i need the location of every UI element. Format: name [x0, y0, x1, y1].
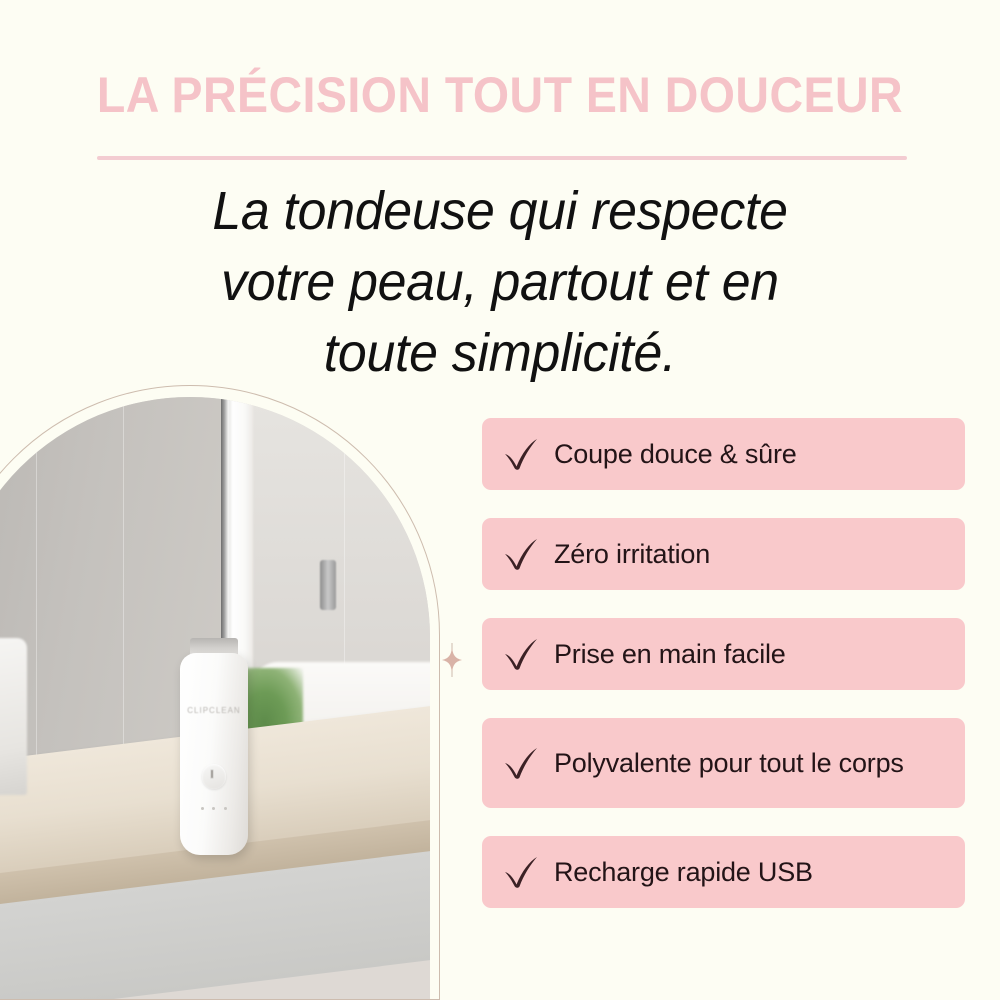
led-dot	[201, 807, 204, 810]
sparkle-icon	[439, 643, 465, 677]
feature-label: Coupe douce & sûre	[554, 438, 797, 471]
battery-leds-icon	[201, 807, 228, 810]
product-photo-frame: CLIPCLEAN	[0, 385, 440, 1000]
check-icon	[500, 533, 542, 575]
power-button-icon	[202, 764, 226, 788]
check-icon	[500, 433, 542, 475]
tile-seam-icon	[123, 397, 124, 795]
feature-item[interactable]: Prise en main facile	[482, 618, 965, 690]
led-dot	[212, 807, 215, 810]
feature-label: Recharge rapide USB	[554, 856, 813, 889]
faucet-icon	[320, 560, 336, 610]
tile-seam-icon	[36, 397, 37, 795]
feature-list: Coupe douce & sûre Zéro irritation Prise…	[482, 418, 965, 908]
page-headline: LA PRÉCISION TOUT EN DOUCEUR	[35, 66, 965, 124]
feature-label: Prise en main facile	[554, 638, 786, 671]
feature-label: Zéro irritation	[554, 538, 710, 571]
feature-item[interactable]: Zéro irritation	[482, 518, 965, 590]
subtitle-line-3: toute simplicité.	[126, 318, 875, 389]
product-brand-logo: CLIPCLEAN	[186, 706, 242, 715]
check-icon	[500, 851, 542, 893]
trimmer-body: CLIPCLEAN	[180, 653, 247, 855]
feature-item[interactable]: Recharge rapide USB	[482, 836, 965, 908]
trimmer-reflection	[0, 638, 27, 795]
check-icon	[500, 633, 542, 675]
feature-label: Polyvalente pour tout le corps	[554, 747, 904, 780]
feature-item[interactable]: Polyvalente pour tout le corps	[482, 718, 965, 808]
subtitle-line-2: votre peau, partout et en	[126, 247, 875, 318]
trimmer-product: CLIPCLEAN	[180, 638, 247, 855]
feature-item[interactable]: Coupe douce & sûre	[482, 418, 965, 490]
check-icon	[500, 742, 542, 784]
led-dot	[224, 807, 227, 810]
subtitle-line-1: La tondeuse qui respecte	[126, 176, 875, 247]
header-divider	[97, 156, 907, 160]
product-photo: CLIPCLEAN	[0, 397, 430, 1000]
page-subtitle: La tondeuse qui respecte votre peau, par…	[110, 176, 890, 389]
